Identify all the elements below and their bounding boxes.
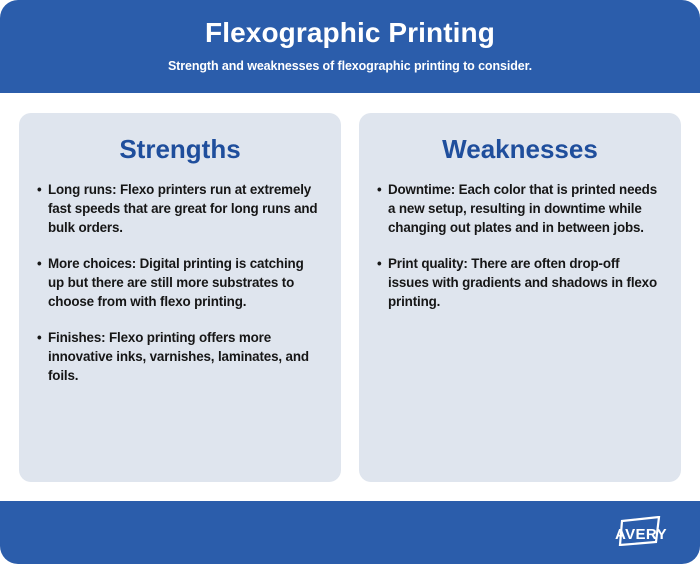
card-title-strengths: Strengths xyxy=(37,135,323,164)
infographic-card: Flexographic Printing Strength and weakn… xyxy=(0,0,700,564)
bullet-dot-icon: • xyxy=(377,254,382,273)
card-title-weaknesses: Weaknesses xyxy=(377,135,663,164)
page-subtitle: Strength and weaknesses of flexographic … xyxy=(168,59,532,73)
list-item-text: Finishes: Flexo printing offers more inn… xyxy=(48,330,309,383)
bullet-dot-icon: • xyxy=(37,328,42,347)
list-item-text: Long runs: Flexo printers run at extreme… xyxy=(48,182,317,235)
list-item: • Print quality: There are often drop-of… xyxy=(377,254,663,311)
list-item: • Downtime: Each color that is printed n… xyxy=(377,180,663,237)
avery-logo[interactable]: AVERY xyxy=(604,516,678,550)
bullet-dot-icon: • xyxy=(37,180,42,199)
list-item: • More choices: Digital printing is catc… xyxy=(37,254,323,311)
bullet-dot-icon: • xyxy=(37,254,42,273)
bullet-dot-icon: • xyxy=(377,180,382,199)
list-item-text: More choices: Digital printing is catchi… xyxy=(48,256,304,309)
list-item-text: Print quality: There are often drop-off … xyxy=(388,256,657,309)
card-strengths: Strengths • Long runs: Flexo printers ru… xyxy=(19,113,341,482)
strengths-list: • Long runs: Flexo printers run at extre… xyxy=(37,180,323,385)
list-item-text: Downtime: Each color that is printed nee… xyxy=(388,182,657,235)
card-weaknesses: Weaknesses • Downtime: Each color that i… xyxy=(359,113,681,482)
comparison-columns: Strengths • Long runs: Flexo printers ru… xyxy=(0,113,700,482)
weaknesses-list: • Downtime: Each color that is printed n… xyxy=(377,180,663,311)
list-item: • Finishes: Flexo printing offers more i… xyxy=(37,328,323,385)
avery-wordmark: AVERY xyxy=(604,527,678,542)
list-item: • Long runs: Flexo printers run at extre… xyxy=(37,180,323,237)
header-bar: Flexographic Printing Strength and weakn… xyxy=(0,0,700,93)
page-title: Flexographic Printing xyxy=(205,17,495,48)
footer-bar: AVERY xyxy=(0,501,700,564)
